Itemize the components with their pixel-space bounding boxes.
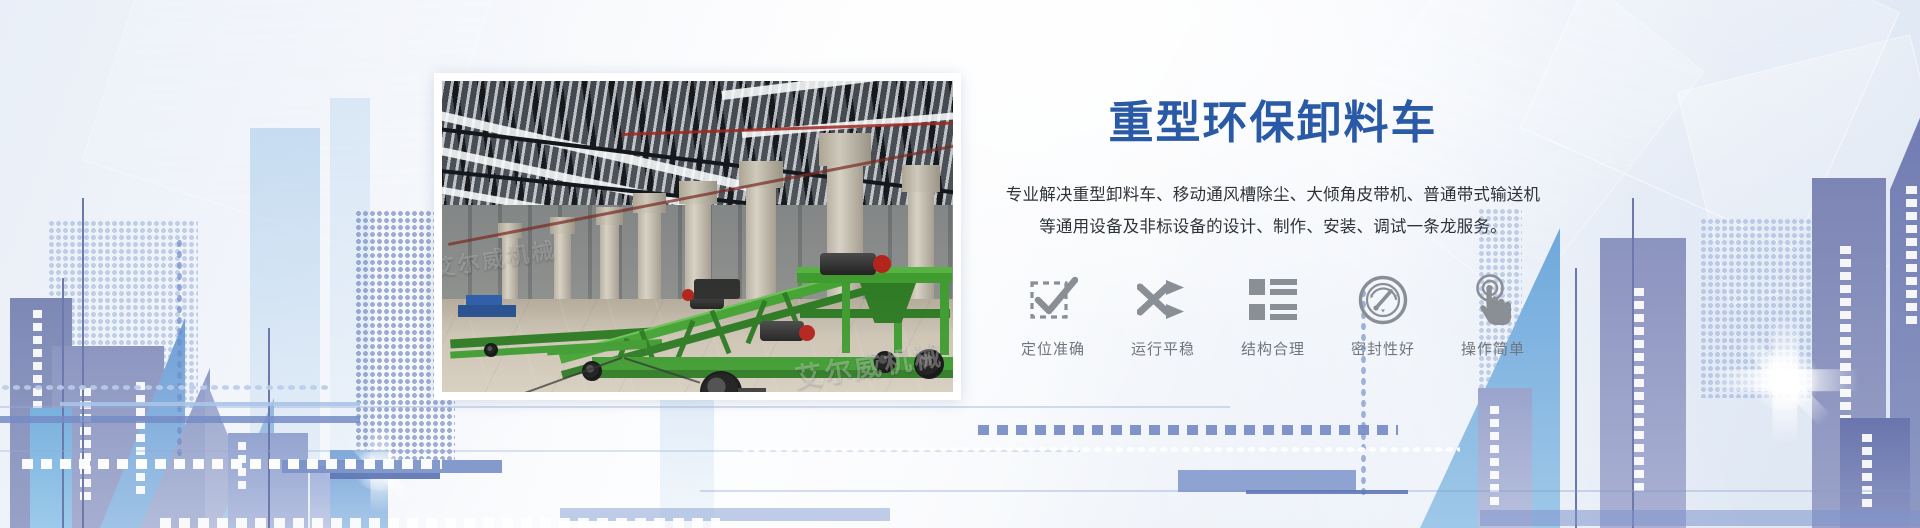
feature-item-smooth-running[interactable]: 运行平稳 [1114,273,1212,359]
band-bar [330,473,440,479]
feature-item-structure[interactable]: 结构合理 [1224,273,1322,359]
window-column [1840,246,1851,496]
window-column [1906,186,1917,338]
antenna-mast [1575,268,1577,528]
antenna-mast [1632,198,1634,528]
feature-item-sealing[interactable]: 密封性好 [1334,273,1432,359]
seal-gauge-circle-icon [1334,273,1432,327]
page-title: 重型环保卸料车 [1000,96,1546,149]
product-banner: 艾尔威机械 艾尔威机械 重型环保卸料车 专业解决重型卸料车、移动通风槽除尘、大倾… [0,0,1920,528]
feature-label: 定位准确 [1004,338,1102,359]
band-bar [1246,490,1408,494]
band-line [0,450,1080,452]
window-column [238,442,246,506]
window-column [33,310,42,506]
band-bar [1178,470,1356,492]
window-column [1862,434,1872,516]
description-line-3: 调试一条龙服务。 [1373,217,1507,236]
band-line [700,490,1920,492]
feature-list: 定位准确 运行平稳 [1000,273,1546,359]
background-polygon [1677,34,1920,306]
background-polygon [1520,0,1900,250]
band-line [0,406,1230,408]
dashed-band [22,459,442,469]
band-bar [282,460,502,473]
dotted-band [0,384,330,391]
dashed-band [160,518,720,528]
window-column [1490,406,1499,514]
band-bar [560,508,890,521]
feature-label: 结构合理 [1224,338,1322,359]
lens-flare [300,410,460,528]
description-line-1: 专业解决重型卸料车、移动通风槽除尘、大倾角皮带机、普 [1006,185,1440,204]
bottom-decor-bands [0,378,1920,528]
feature-label: 操作简单 [1444,338,1542,359]
feature-item-easy-operation[interactable]: 操作简单 [1444,273,1542,359]
band-bar [0,416,360,423]
dotted-band [740,446,1460,453]
window-column [136,382,145,500]
feature-label: 密封性好 [1334,338,1432,359]
antenna-mast [82,198,84,528]
shuffle-arrows-icon [1114,273,1212,327]
product-photo: 艾尔威机械 艾尔威机械 [442,81,953,392]
lens-flare [1680,290,1890,470]
antenna-mast [62,278,64,528]
band-bar [60,402,360,406]
banner-description: 专业解决重型卸料车、移动通风槽除尘、大倾角皮带机、普通带式输送机等通用设备及非标… [1000,179,1546,243]
product-photo-frame[interactable]: 艾尔威机械 艾尔威机械 [434,73,961,400]
antenna-mast [268,328,270,528]
banner-content: 重型环保卸料车 专业解决重型卸料车、移动通风槽除尘、大倾角皮带机、普通带式输送机… [1000,96,1546,359]
list-blocks-icon [1224,273,1322,327]
window-column [1632,288,1644,500]
checkbox-dashed-check-icon [1004,273,1102,327]
dashed-band [978,425,1398,435]
photo-shade [442,81,953,392]
dotted-column [176,238,183,468]
hand-touch-icon [1444,273,1542,327]
window-column [80,388,91,510]
feature-item-positioning[interactable]: 定位准确 [1004,273,1102,359]
feature-label: 运行平稳 [1114,338,1212,359]
band-bar [1480,510,1920,526]
